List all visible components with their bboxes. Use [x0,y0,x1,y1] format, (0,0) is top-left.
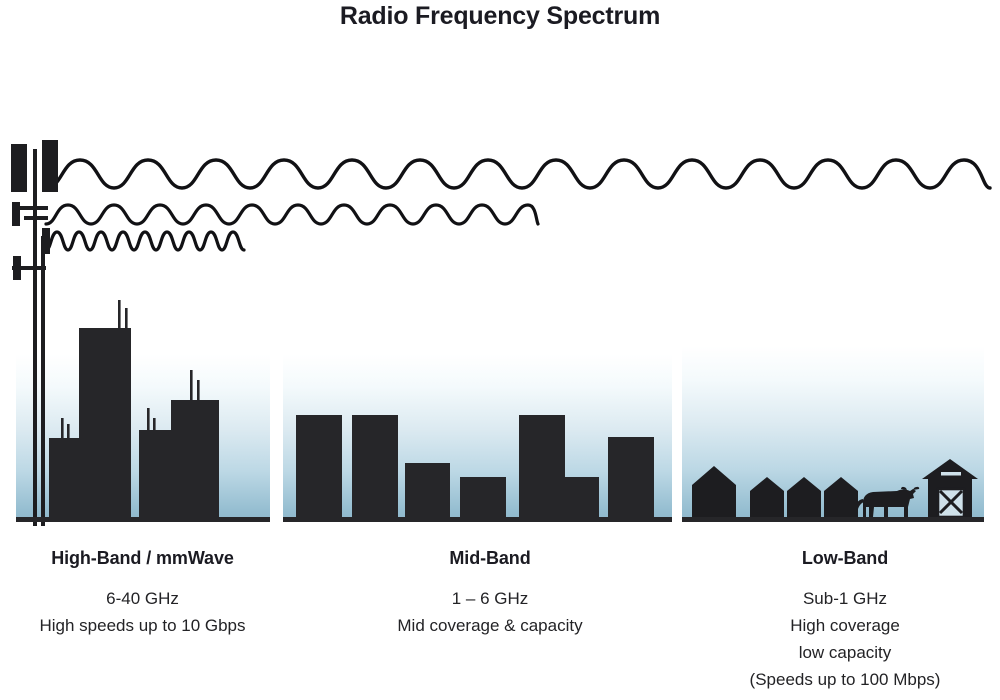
house-1 [692,466,736,517]
city-skyline-mid-band [283,405,672,520]
antenna-panel-mid-right [42,228,50,254]
house-2 [750,477,784,517]
band-caption-low: Low-Band Sub-1 GHz High coverage low cap… [690,548,1000,693]
ground-line-mid [283,517,672,522]
band-desc-low-line-2: High coverage [690,612,1000,639]
band-caption-high: High-Band / mmWave 6-40 GHz High speeds … [0,548,285,639]
page-title: Radio Frequency Spectrum [0,2,1000,31]
band-desc-low-line-3: low capacity [690,639,1000,666]
antenna-panel-upper-right [42,140,58,192]
house-3 [787,477,821,517]
infographic-canvas: Radio Frequency Spectrum [0,0,1000,700]
band-desc-mid-line-2: Mid coverage & capacity [330,612,650,639]
cow [857,487,920,517]
band-title-high: High-Band / mmWave [0,548,285,569]
ground-line-low [682,517,984,522]
house-4 [824,477,858,517]
band-desc-mid-line-1: 1 – 6 GHz [330,585,650,612]
tower-crossbar-upper-2 [24,216,48,220]
band-desc-high-line-1: 6-40 GHz [0,585,285,612]
rural-scene-low-band [682,455,984,521]
ground-line-high [16,517,270,522]
antenna-panel-mid-left [12,202,20,226]
band-desc-low-line-4: (Speeds up to 100 Mbps) [690,666,1000,693]
antenna-panel-lower-left [13,256,21,280]
short-wavelength-wave [44,226,248,262]
barn [922,459,978,517]
band-title-low: Low-Band [690,548,1000,569]
city-skyline-high-band [16,290,270,520]
band-caption-mid: Mid-Band 1 – 6 GHz Mid coverage & capaci… [330,548,650,639]
band-title-mid: Mid-Band [330,548,650,569]
long-wavelength-wave [44,152,992,202]
band-desc-high-line-2: High speeds up to 10 Gbps [0,612,285,639]
antenna-panel-upper-left [11,144,27,192]
band-desc-low-line-1: Sub-1 GHz [690,585,1000,612]
